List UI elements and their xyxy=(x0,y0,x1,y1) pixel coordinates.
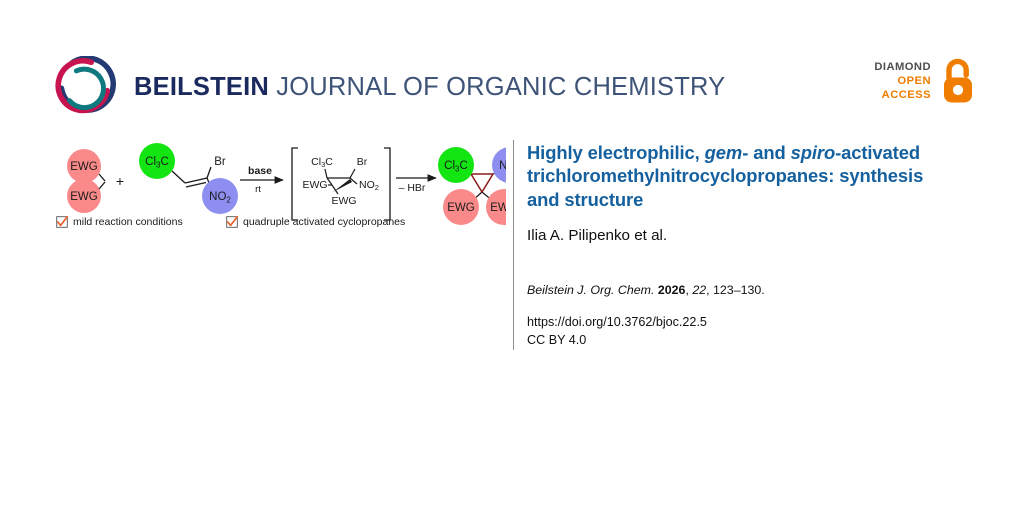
intermediate-no2-label: NO2 xyxy=(359,179,379,192)
article-authors[interactable]: Ilia A. Pilipenko et al. xyxy=(527,227,947,245)
citation-journal: Beilstein J. Org. Chem. xyxy=(527,283,654,297)
feature-bullet-mild-conditions: mild reaction conditions xyxy=(56,216,226,228)
orange-checkmark-icon xyxy=(56,216,68,228)
diamond-open-access-badge[interactable]: DIAMOND OPEN ACCESS xyxy=(874,58,976,104)
beilstein-spiral-logo-icon xyxy=(54,56,116,118)
arrow1-above-label: base xyxy=(248,165,272,177)
article-title[interactable]: Highly electrophilic, gem- and spiro-act… xyxy=(527,141,939,211)
oa-label-open: OPEN xyxy=(874,74,931,88)
ewg-bottom-label: EWG xyxy=(70,191,98,203)
open-padlock-icon xyxy=(940,58,976,104)
citation-year: 2026 xyxy=(658,283,686,297)
bromine-reactant-label: Br xyxy=(214,156,226,168)
orange-checkmark-icon xyxy=(226,216,238,228)
journal-wordmark: BEILSTEIN JOURNAL OF ORGANIC CHEMISTRY xyxy=(134,73,725,101)
feature-bullet-quadruple-activated: quadruple activated cyclopropanes xyxy=(226,216,405,228)
arrow2-below-label: – HBr xyxy=(399,182,426,194)
ewg-top-label: EWG xyxy=(70,161,98,173)
arrow1-below-label: rt xyxy=(255,184,261,195)
journal-wordmark-light: JOURNAL OF ORGANIC CHEMISTRY xyxy=(276,73,725,101)
open-access-badge-text: DIAMOND OPEN ACCESS xyxy=(874,60,931,102)
article-license[interactable]: CC BY 4.0 xyxy=(527,332,947,350)
ewg-product-left-label: EWG xyxy=(447,202,475,214)
vertical-divider xyxy=(513,140,514,350)
article-citation: Beilstein J. Org. Chem. 2026, 22, 123–13… xyxy=(527,282,947,298)
intermediate-br-label: Br xyxy=(357,156,368,168)
title-segment-2: - and xyxy=(742,142,790,163)
journal-wordmark-bold: BEILSTEIN xyxy=(134,73,269,101)
feature-bullet-label: quadruple activated cyclopropanes xyxy=(243,216,405,228)
feature-bullet-list: mild reaction conditions quadruple activ… xyxy=(56,216,506,228)
bracket-right xyxy=(384,148,390,220)
cyclopropane-ring xyxy=(471,174,493,192)
title-emphasis-gem: gem xyxy=(705,142,743,163)
no2-product-label: NO2 xyxy=(499,160,506,174)
intermediate-ewg-bottom-label: EWG xyxy=(331,195,356,207)
oa-label-diamond: DIAMOND xyxy=(874,60,931,74)
masthead-header: BEILSTEIN JOURNAL OF ORGANIC CHEMISTRY D… xyxy=(0,0,1024,132)
title-emphasis-spiro: spiro xyxy=(791,142,835,163)
title-segment-1: Highly electrophilic, xyxy=(527,142,705,163)
article-metadata-panel: Highly electrophilic, gem- and spiro-act… xyxy=(527,141,947,350)
bracket-left xyxy=(292,148,298,220)
citation-volume: 22 xyxy=(692,283,706,297)
graphical-abstract-figure: EWG EWG + Cl3C Br NO2 base rt Cl3C Br EW… xyxy=(44,134,506,252)
citation-pages: 123–130. xyxy=(713,283,765,297)
ewg-product-right-label: EWG xyxy=(490,202,506,214)
article-doi-link[interactable]: https://doi.org/10.3762/bjoc.22.5 xyxy=(527,314,947,332)
oa-label-access: ACCESS xyxy=(874,88,931,102)
plus-sign-label: + xyxy=(116,173,124,189)
intermediate-ewg-left-label: EWG xyxy=(302,179,327,191)
journal-brand-lockup[interactable]: BEILSTEIN JOURNAL OF ORGANIC CHEMISTRY xyxy=(54,56,725,118)
stereo-wedge xyxy=(333,179,352,192)
feature-bullet-label: mild reaction conditions xyxy=(73,216,183,228)
intermediate-cl3c-label: Cl3C xyxy=(311,156,333,169)
